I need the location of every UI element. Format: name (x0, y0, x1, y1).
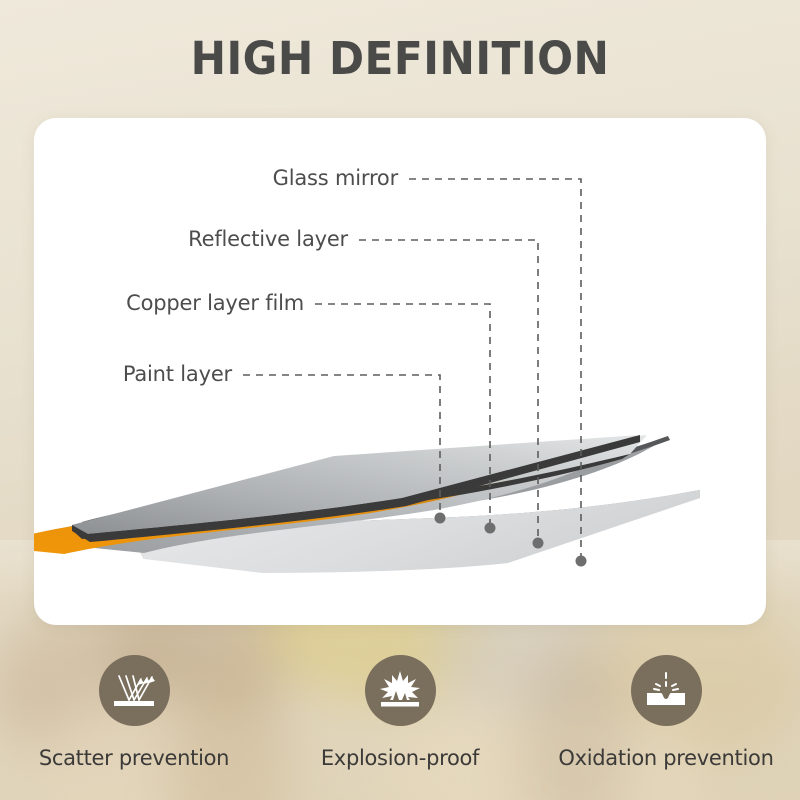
callout-paint-layer: Paint layer (123, 362, 232, 386)
callout-label: Copper layer film (126, 291, 304, 315)
callout-label: Glass mirror (273, 166, 398, 190)
explosion-burst-glyph (377, 669, 423, 713)
feature-label: Scatter prevention (39, 746, 229, 770)
feature-label: Explosion-proof (321, 746, 479, 770)
callout-label: Paint layer (123, 362, 232, 386)
surface-impact-icon (631, 655, 702, 726)
callout-reflective-layer: Reflective layer (188, 227, 348, 251)
surface-impact-glyph (642, 669, 690, 713)
scatter-reflection-icon (99, 655, 170, 726)
feature-label: Oxidation prevention (558, 746, 773, 770)
feature-scatter-prevention[interactable]: Scatter prevention (1, 655, 267, 770)
diagram-card: Glass mirror Reflective layer Copper lay… (34, 118, 766, 625)
scatter-reflection-glyph (110, 669, 158, 713)
page-title: HIGH DEFINITION (24, 36, 776, 81)
callout-glass-mirror: Glass mirror (273, 166, 398, 190)
feature-list: Scatter prevention Explosion-proof (0, 655, 800, 770)
explosion-burst-icon (365, 655, 436, 726)
product-feature-page: HIGH DEFINITION (0, 0, 800, 800)
feature-explosion-proof[interactable]: Explosion-proof (267, 655, 533, 770)
callout-label: Reflective layer (188, 227, 348, 251)
feature-oxidation-prevention[interactable]: Oxidation prevention (533, 655, 799, 770)
callout-copper-layer-film: Copper layer film (126, 291, 304, 315)
